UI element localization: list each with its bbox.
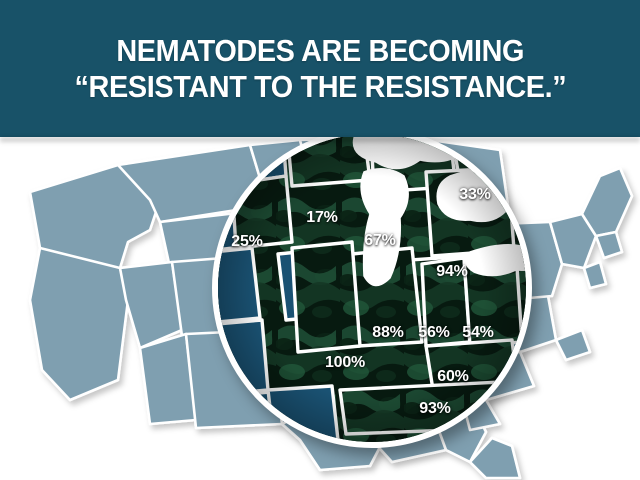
percent-label-ontario-north: 33% — [459, 186, 490, 204]
state-delaware-maryland — [556, 330, 590, 360]
state-new-england — [596, 232, 622, 258]
percent-label-tennessee: 93% — [419, 400, 450, 418]
state-maine — [582, 168, 632, 236]
percent-label-kentucky: 60% — [437, 368, 468, 386]
magnifier-lens — [212, 128, 532, 448]
percent-label-south-dakota: 25% — [231, 233, 262, 251]
percent-label-indiana: 56% — [418, 324, 449, 342]
percent-label-michigan: 94% — [436, 263, 467, 281]
percent-label-illinois: 88% — [372, 324, 403, 342]
headline-line-2: “RESISTANT TO THE RESISTANCE.” — [74, 70, 566, 103]
percent-label-missouri: 100% — [325, 354, 365, 372]
percent-label-minnesota: 17% — [306, 209, 337, 227]
lens-vignette — [212, 128, 532, 448]
percent-label-ohio: 54% — [462, 324, 493, 342]
percent-label-wisconsin: 67% — [364, 232, 395, 250]
magnified-midwest-map — [212, 128, 532, 448]
infographic-root: 25% 17% 67% 33% 94% 88% 56% 54% 100% 60%… — [0, 0, 640, 480]
state-california — [30, 248, 128, 400]
headline: NEMATODES ARE BECOMING “RESISTANT TO THE… — [0, 0, 640, 137]
headline-line-1: NEMATODES ARE BECOMING — [116, 34, 524, 67]
state-new-jersey — [584, 262, 606, 288]
